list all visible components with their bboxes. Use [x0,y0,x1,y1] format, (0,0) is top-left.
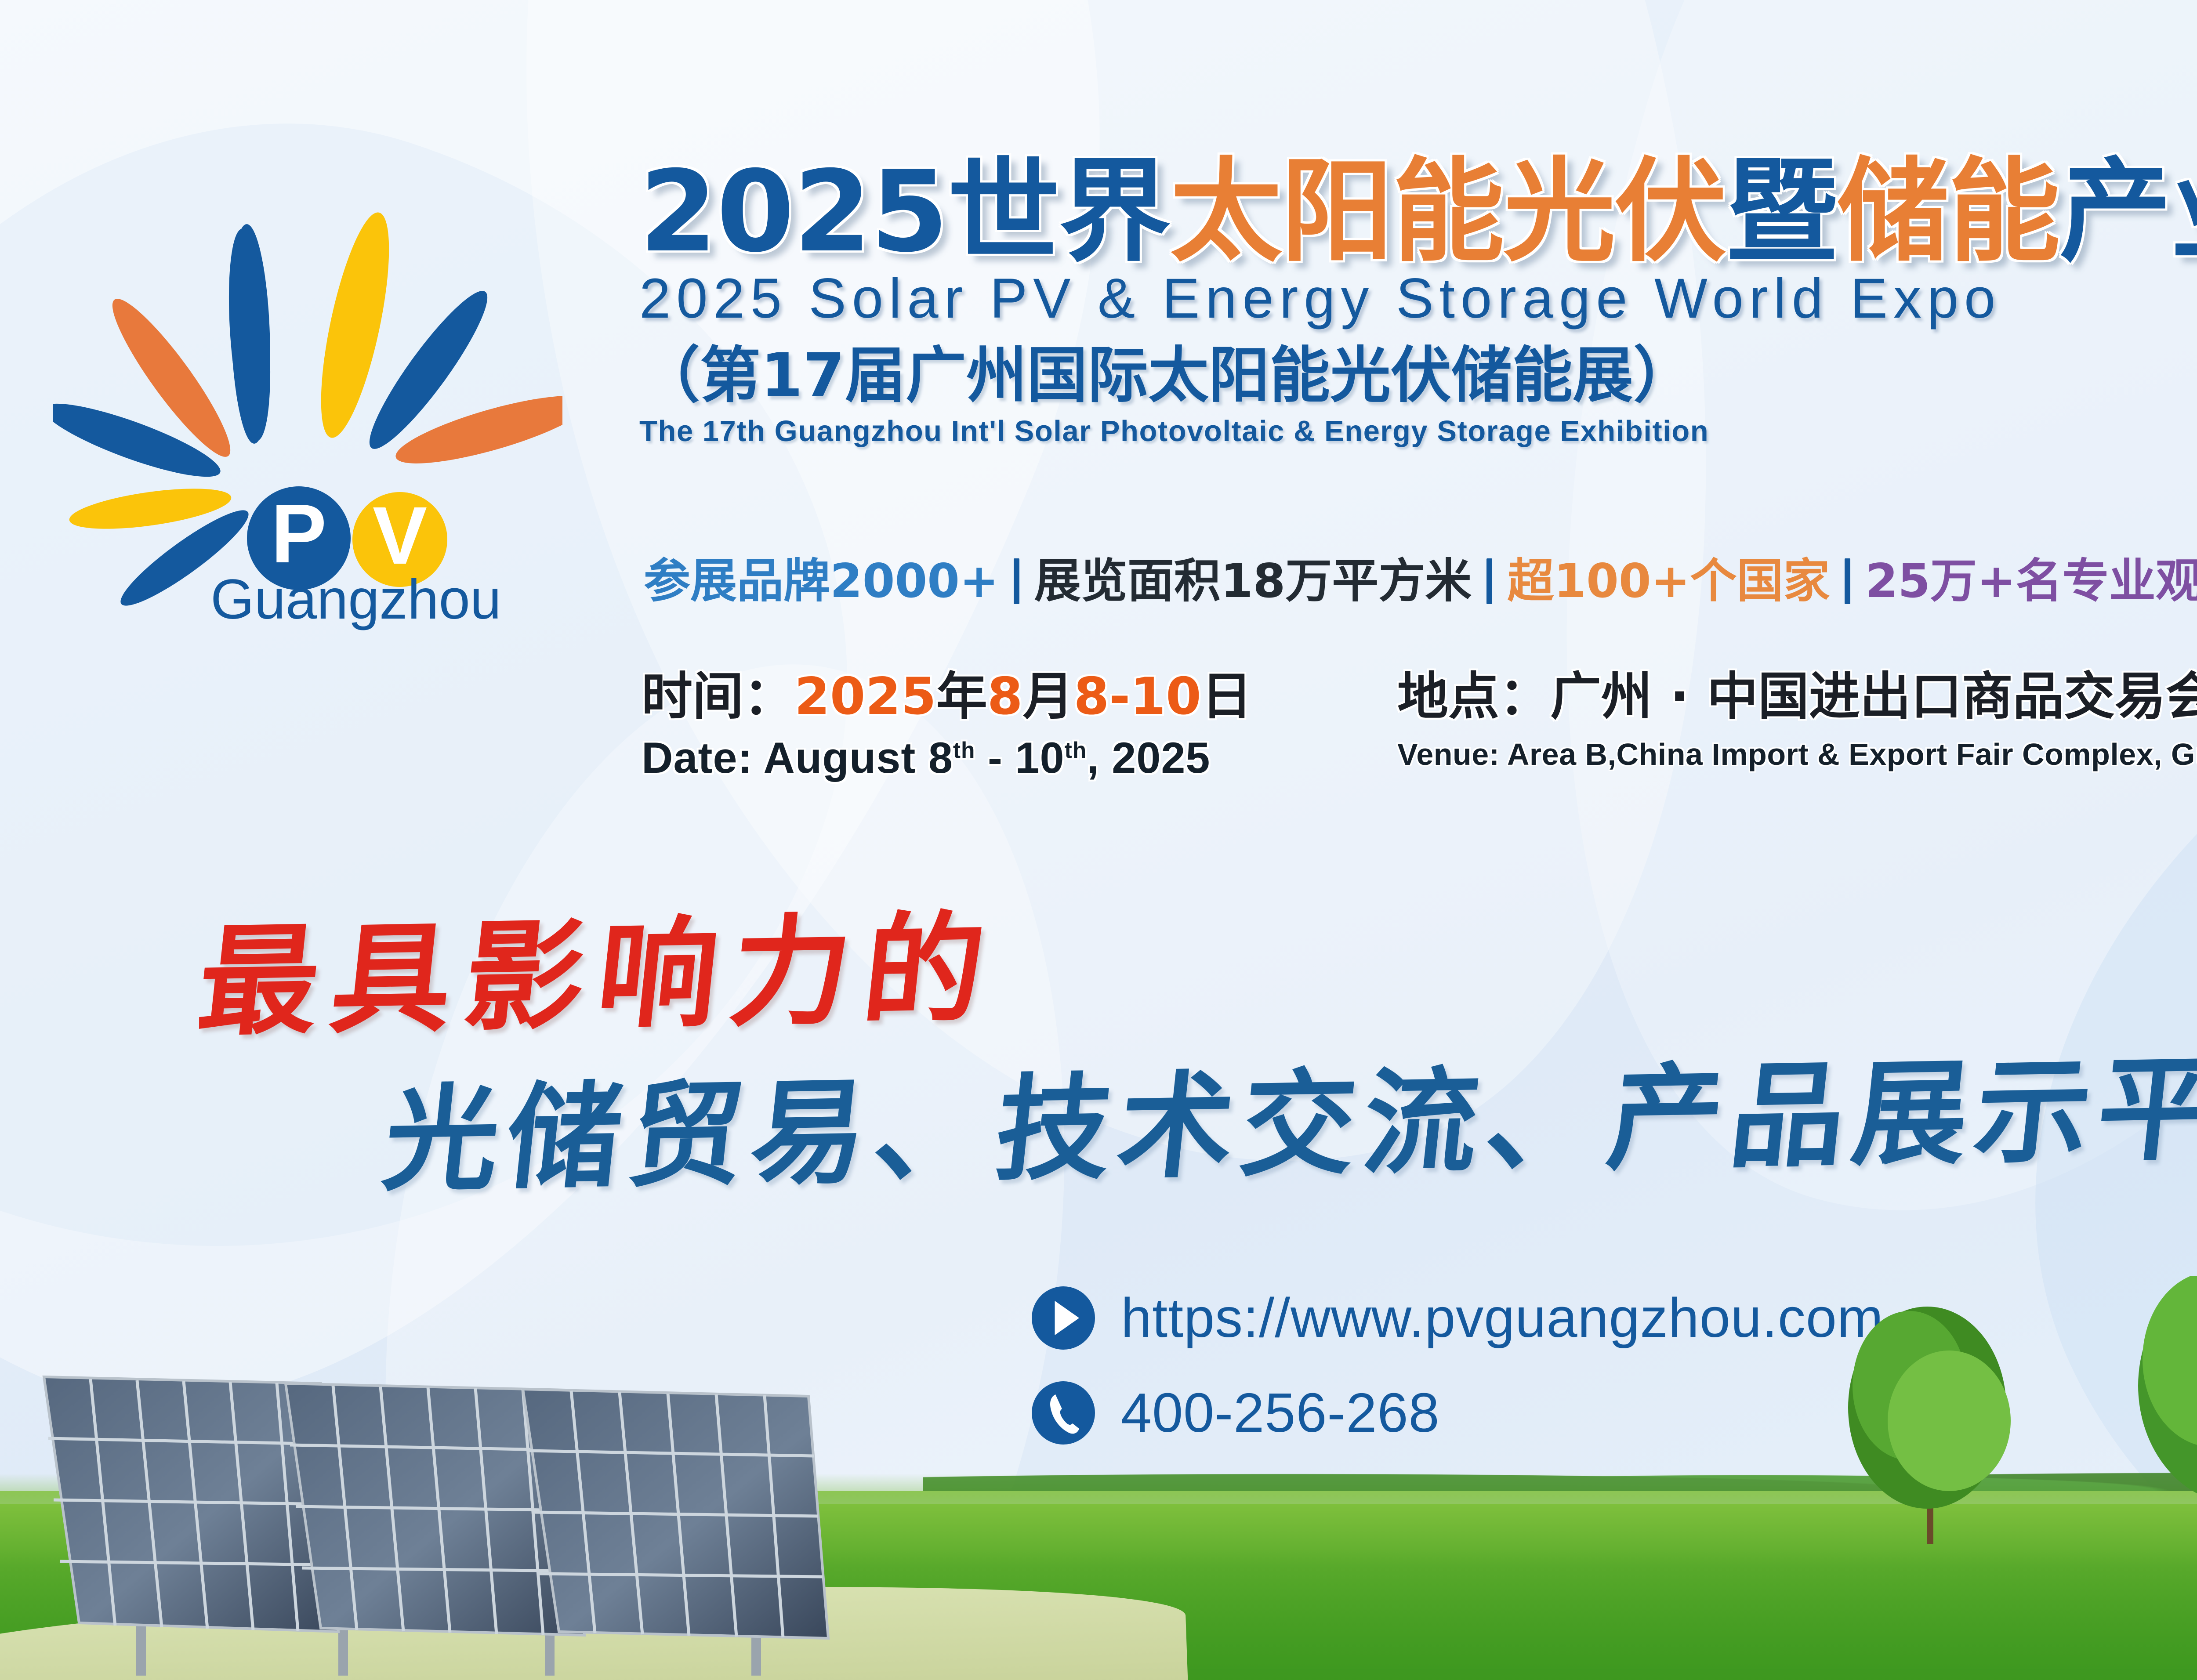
stats-strip: 参展品牌2000+ 展览面积18万平方米 超100+个国家 25万+名专业观众 [644,558,2197,605]
venue-chinese: 地点：广州 · 中国进出口商品交易会展馆B区 [1397,670,2197,724]
headline-block: 2025世界太阳能光伏暨储能产业博览会 2025 Solar PV & Ener… [639,156,2197,446]
date-english: Date: August 8th - 10th, 2025 [642,735,1252,781]
svg-text:P: P [271,487,327,580]
date-en-suffix: , 2025 [1087,733,1210,782]
slogan-line-1: 最具影响力的 [193,909,1003,1043]
date-en-mid: - 10 [975,733,1064,782]
title-english: 2025 Solar PV & Energy Storage World Exp… [639,271,2197,327]
title-part-5: 储能 [1837,147,2059,277]
tree-cluster [1743,1276,2197,1548]
stat-exhibiting-brands: 参展品牌2000+ [644,558,999,605]
date-chinese: 时间：2025年8月8-10日 [642,670,1252,724]
stat-countries: 超100+个国家 [1507,558,1830,605]
landscape-illustration [0,1241,2197,1680]
stats-divider-2 [1486,558,1492,604]
title-part-4: 暨 [1726,147,1837,277]
date-year: 2025 [794,667,936,726]
logo-wordmark: Guangzhou [210,568,501,631]
event-venue-block: 地点：广州 · 中国进出口商品交易会展馆B区 Venue: Area B,Chi… [1397,670,2197,771]
stat-exhibition-area: 展览面积18万平方米 [1034,558,1472,605]
date-month-unit: 月 [1023,667,1074,726]
subtitle-english: The 17th Guangzhou Int'l Solar Photovolt… [639,416,2197,446]
title-part-1: 2025 [639,147,948,277]
solar-panel-array [4,1359,971,1676]
date-days: 8-10 [1074,667,1201,726]
promo-banner: P V Guangzhou 2025世界太阳能光伏暨储能产业博览会 2025 S… [0,0,2197,1680]
date-en-prefix: Date: August 8 [642,733,953,782]
date-year-unit: 年 [936,667,987,726]
pv-guangzhou-logo: P V Guangzhou [53,171,562,637]
date-day-unit: 日 [1201,667,1252,726]
title-part-3: 太阳能光伏 [1170,147,1726,277]
title-chinese: 2025世界太阳能光伏暨储能产业博览会 [639,156,2197,268]
date-en-ordinal-1: th [953,737,975,763]
date-en-ordinal-2: th [1065,737,1087,763]
date-month: 8 [987,667,1023,726]
subtitle-chinese: （第17届广州国际太阳能光伏储能展） [639,345,2197,406]
event-date-block: 时间：2025年8月8-10日 Date: August 8th - 10th,… [642,670,1252,781]
title-part-2: 世界 [948,147,1170,277]
stats-divider-1 [1014,558,1019,604]
title-part-6: 产业博览会 [2059,147,2197,277]
stats-divider-3 [1845,558,1850,604]
stat-professional-visitors: 25万+名专业观众 [1865,558,2197,605]
venue-english: Venue: Area B,China Import & Export Fair… [1397,739,2197,771]
slogan-line-2: 光储贸易、技术交流、产品展示平台！ [379,1047,2197,1198]
svg-text:V: V [373,490,427,581]
date-label-cn: 时间： [642,667,794,726]
